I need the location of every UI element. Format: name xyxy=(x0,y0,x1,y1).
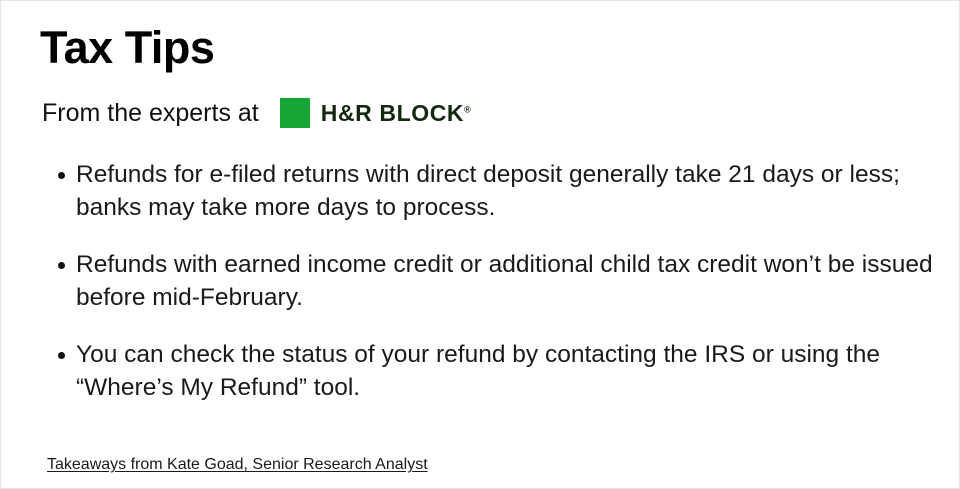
page-title: Tax Tips xyxy=(40,24,214,71)
bullet-dot-icon xyxy=(58,352,65,359)
hr-block-wordmark-text: H&R BLOCK xyxy=(321,100,464,126)
hr-block-wordmark: H&R BLOCK® xyxy=(321,102,471,125)
list-item: Refunds with earned income credit or add… xyxy=(58,249,937,314)
subtitle-row: From the experts at H&R BLOCK® xyxy=(42,96,471,130)
list-item-text: You can check the status of your refund … xyxy=(76,339,937,404)
list-item-text: Refunds with earned income credit or add… xyxy=(76,249,937,314)
hr-block-square-icon xyxy=(280,98,310,128)
tax-tips-slide: Tax Tips From the experts at H&R BLOCK® … xyxy=(0,0,960,489)
slide-content: Tax Tips From the experts at H&R BLOCK® … xyxy=(40,1,937,488)
list-item: You can check the status of your refund … xyxy=(58,339,937,404)
subtitle-text: From the experts at xyxy=(42,101,259,126)
list-item: Refunds for e-filed returns with direct … xyxy=(58,159,937,224)
tips-list: Refunds for e-filed returns with direct … xyxy=(58,159,937,404)
bullet-dot-icon xyxy=(58,262,65,269)
trademark-icon: ® xyxy=(464,104,471,114)
hr-block-logo: H&R BLOCK® xyxy=(280,98,471,128)
bullet-dot-icon xyxy=(58,172,65,179)
attribution-credit: Takeaways from Kate Goad, Senior Researc… xyxy=(47,456,428,474)
list-item-text: Refunds for e-filed returns with direct … xyxy=(76,159,937,224)
